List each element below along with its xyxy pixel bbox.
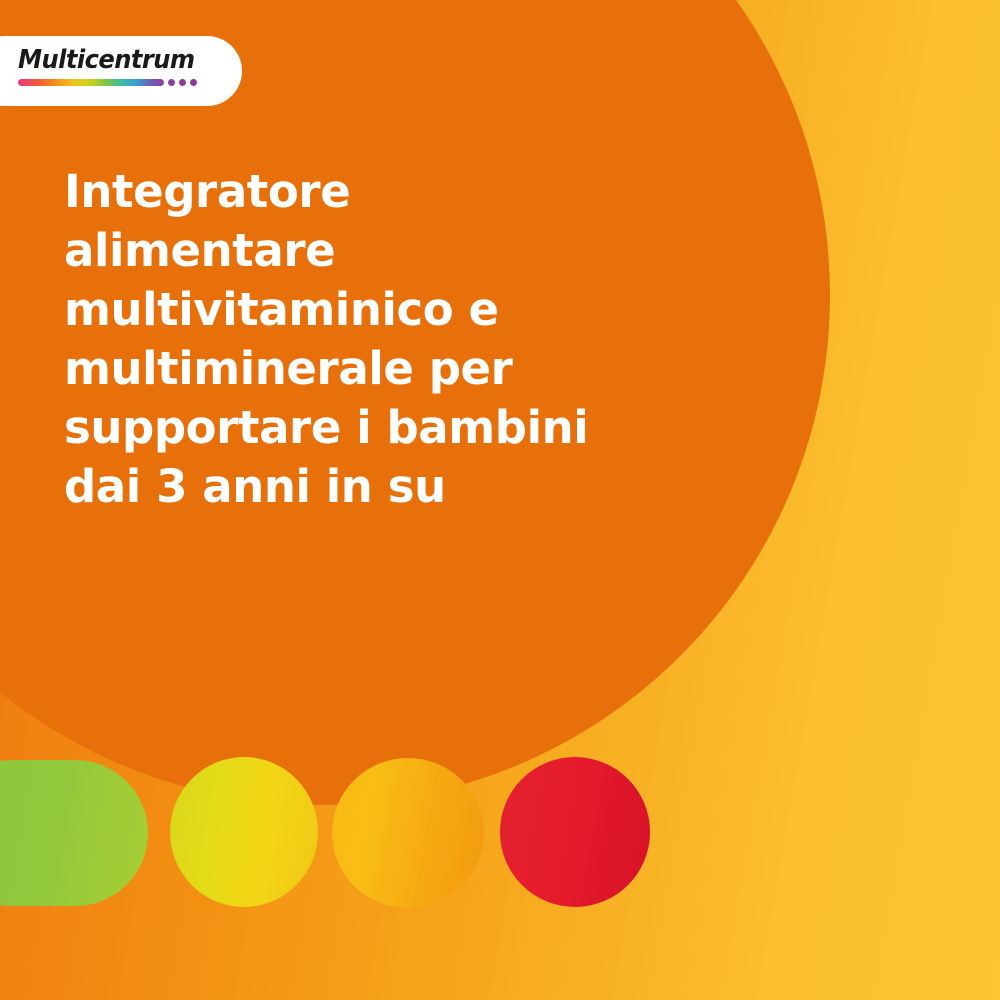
green-gummy-shape [0,760,148,906]
brand-rainbow-row [18,79,197,86]
page-title: Integratore alimentare multivitaminico e… [64,162,704,516]
rainbow-bar-icon [18,79,164,86]
logo-dot-icon-1 [168,79,175,86]
red-gummy-shape [500,757,650,907]
promo-banner: Multicentrum Integratore alimentare mult… [0,0,1000,1000]
yellow-gummy-shape [170,757,318,907]
logo-dot-icon-3 [190,79,197,86]
brand-logo-pill[interactable]: Multicentrum [0,36,242,106]
brand-wordmark: Multicentrum [18,45,199,75]
brand-logo-content: Multicentrum [18,45,213,97]
orange-gummy-shape [332,758,484,908]
logo-dot-icon-2 [179,79,186,86]
